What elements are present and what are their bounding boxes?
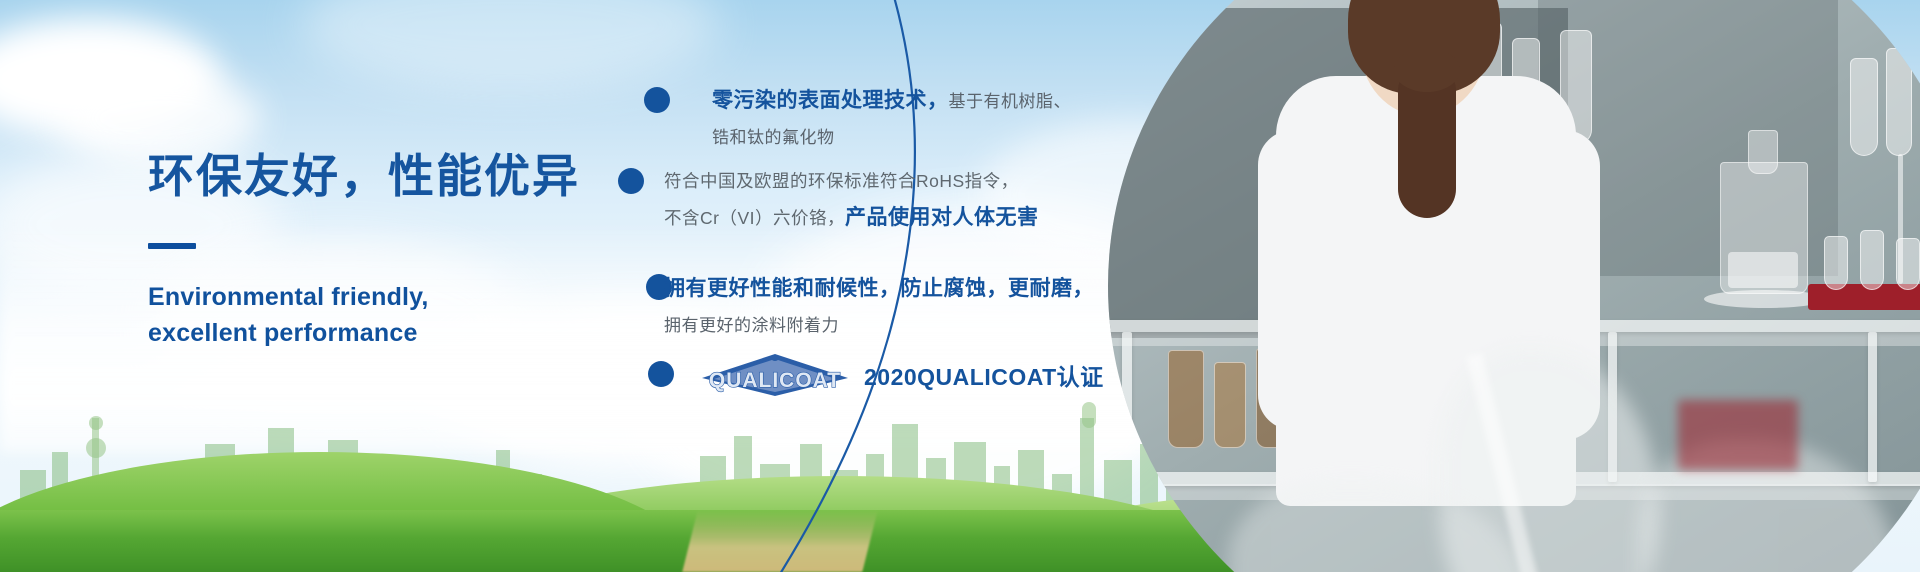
- feature-1-rest: 基于有机树脂、: [949, 92, 1072, 111]
- feature-2-strong: 产品使用对人体无害: [845, 206, 1039, 229]
- feature-item-1: 零污染的表面处理技术，基于有机树脂、 锆和钛的氟化物: [712, 84, 1071, 152]
- feature-2-line-2: 不含Cr（VI）六价铬，产品使用对人体无害: [664, 201, 1039, 235]
- feature-item-4: QUALICOAT 2020QUALICOAT认证: [700, 352, 1104, 398]
- qualicoat-logo-icon: QUALICOAT: [700, 352, 850, 398]
- qualicoat-certification-label: 2020QUALICOAT认证: [864, 358, 1104, 392]
- feature-item-3: 拥有更好性能和耐候性，防止腐蚀，更耐磨， 拥有更好的涂料附着力: [664, 272, 1094, 340]
- lab-photo: [1108, 0, 1920, 572]
- bullet-dot-1: [644, 87, 670, 113]
- lab-scene: [1108, 0, 1920, 572]
- bullet-dot-4: [648, 361, 674, 387]
- promo-banner: 环保友好，性能优异 Environmental friendly, excell…: [0, 0, 1920, 572]
- feature-item-2: 符合中国及欧盟的环保标准符合RoHS指令， 不含Cr（VI）六价铬，产品使用对人…: [664, 167, 1039, 235]
- feature-3-line-2: 拥有更好的涂料附着力: [664, 312, 1094, 340]
- feature-3-strong: 拥有更好性能和耐候性，防止腐蚀，更耐磨，: [664, 272, 1094, 306]
- feature-1-strong: 零污染的表面处理技术，: [712, 89, 949, 112]
- feature-1-line-2: 锆和钛的氟化物: [712, 124, 1071, 152]
- feature-2-normal: 不含Cr（VI）六价铬，: [664, 208, 845, 228]
- bullet-dot-2: [618, 168, 644, 194]
- feature-1-line-1: 零污染的表面处理技术，基于有机树脂、: [712, 84, 1071, 118]
- svg-text:QUALICOAT: QUALICOAT: [709, 369, 841, 392]
- feature-2-line-1: 符合中国及欧盟的环保标准符合RoHS指令，: [664, 167, 1039, 195]
